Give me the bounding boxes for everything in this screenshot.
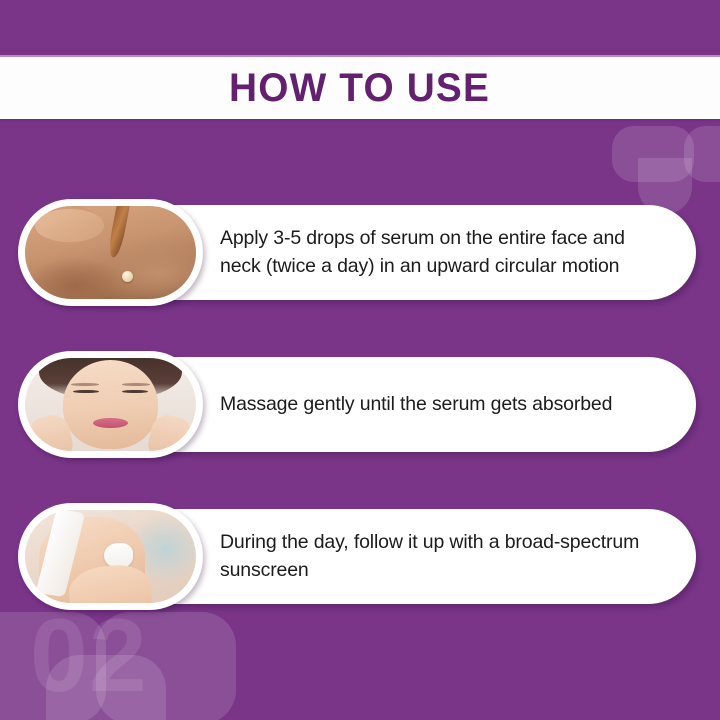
step-number-watermark: 02 — [30, 604, 148, 708]
steps-list: Apply 3-5 drops of serum on the entire f… — [0, 205, 720, 604]
sunscreen-on-shoulder-photo — [25, 510, 196, 603]
list-item: During the day, follow it up with a broa… — [0, 509, 720, 604]
decorative-shape-top-right-a — [612, 126, 694, 182]
decorative-shape-bottom-left-a — [0, 612, 106, 720]
serum-dropper-on-skin-photo — [25, 206, 196, 299]
step-text-2: Massage gently until the serum gets abso… — [220, 391, 612, 419]
list-item: Massage gently until the serum gets abso… — [0, 357, 720, 452]
step-text-1: Apply 3-5 drops of serum on the entire f… — [220, 225, 670, 280]
decorative-shape-bottom-left-c — [46, 655, 166, 720]
step-thumbnail-1 — [18, 199, 203, 306]
step-thumbnail-3 — [18, 503, 203, 610]
list-item: Apply 3-5 drops of serum on the entire f… — [0, 205, 720, 300]
title-band: HOW TO USE — [0, 57, 720, 119]
step-thumbnail-2 — [18, 351, 203, 458]
step-text-3: During the day, follow it up with a broa… — [220, 529, 670, 584]
page-title: HOW TO USE — [230, 66, 491, 111]
decorative-shape-top-right-b — [684, 126, 720, 182]
decorative-shape-bottom-left-b — [96, 612, 236, 720]
how-to-use-poster: 02 HOW TO USE Apply 3-5 drops of serum o… — [0, 0, 720, 720]
woman-face-massage-photo — [25, 358, 196, 451]
